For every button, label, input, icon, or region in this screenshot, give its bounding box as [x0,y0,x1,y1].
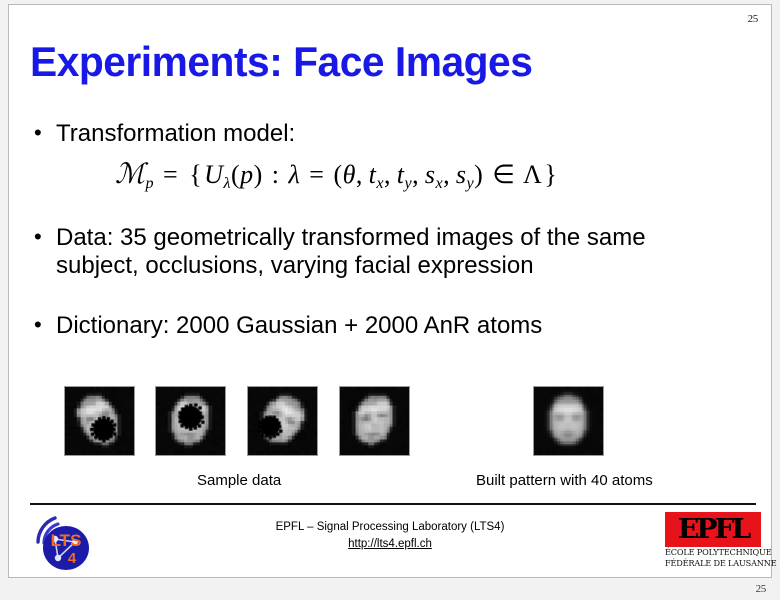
formula-parameter-set: Λ [523,160,542,189]
sample-face-1-image [64,386,135,456]
formula-operator-subscript: λ [223,175,230,192]
epfl-subtitle-line1: ÉCOLE POLYTECHNIQUE [665,548,761,558]
formula-open-brace: { [187,160,204,189]
footer-divider [30,503,756,505]
formula-lambda: λ [289,160,301,189]
bullet-marker-icon: • [34,224,56,250]
page-number-bottom: 25 [756,583,766,595]
formula-colon: : [270,160,282,189]
epfl-letters: EPFL [663,512,764,547]
caption-built-pattern: Built pattern with 40 atoms [476,472,653,489]
built-pattern-face-image [533,386,604,456]
formula-close-brace: } [542,160,559,189]
sample-face-4-image [339,386,410,456]
formula-equals: = [161,160,180,189]
epfl-logo: EPFL ÉCOLE POLYTECHNIQUE FÉDÉRALE DE LAU… [665,512,761,572]
bullet-marker-icon: • [34,120,56,146]
epfl-logo-mark: EPFL [665,512,761,547]
formula-manifold-subscript: p [145,175,154,192]
bullet-text: Data: 35 geometrically transformed image… [56,224,724,280]
bullet-text: Dictionary: 2000 Gaussian + 2000 AnR ato… [56,312,724,340]
formula-operator-U: U [204,160,223,189]
lts4-label: LTS [51,531,82,550]
epfl-subtitle-line2: FÉDÉRALE DE LAUSANNE [665,559,761,569]
caption-sample-data: Sample data [197,472,281,489]
bullet-marker-icon: • [34,312,56,338]
formula-manifold-symbol: ℳ [115,157,145,190]
page-title: Experiments: Face Images [30,38,532,86]
lts4-number: 4 [68,550,77,567]
sample-face-3-image [247,386,318,456]
formula-equals-2: = [307,160,326,189]
bullet-item-dictionary: • Dictionary: 2000 Gaussian + 2000 AnR a… [34,312,724,340]
figure-image-strip [0,386,780,458]
sample-face-2-image [155,386,226,456]
formula-element-of: ∈ [490,160,517,189]
bullet-item-data: • Data: 35 geometrically transformed ima… [34,224,724,280]
formula-argument: (p) [231,160,263,189]
slide-root: 25 Experiments: Face Images • Transforma… [0,0,780,600]
lts4-logo: LTS 4 [28,512,96,574]
formula-parameter-tuple: (θ, tx, ty, sx, sy) [333,160,483,189]
transformation-model-formula: ℳp = {Uλ(p) : λ = (θ, tx, ty, sx, sy) ∈ … [115,157,559,193]
footer-url-link[interactable]: http://lts4.epfl.ch [348,536,432,553]
page-number-top: 25 [748,13,758,25]
slide-canvas [8,4,772,578]
bullet-text: Transformation model: [56,120,724,148]
bullet-item-transformation-model: • Transformation model: [34,120,724,148]
